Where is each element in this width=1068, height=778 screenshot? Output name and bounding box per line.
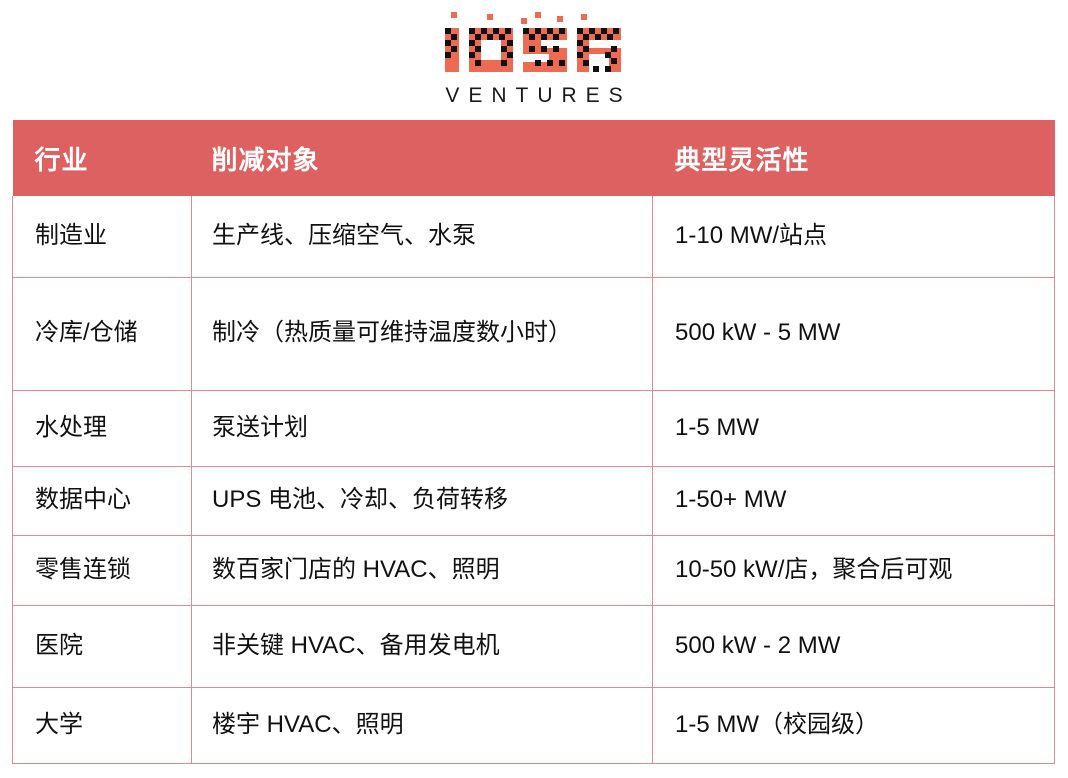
cell-flexibility: 1-5 MW [653, 390, 1055, 466]
cell-industry: 数据中心 [13, 466, 192, 535]
cell-industry: 医院 [13, 605, 192, 687]
cell-flexibility: 500 kW - 5 MW [653, 277, 1055, 390]
cell-target: 泵送计划 [192, 390, 653, 466]
table-row: 水处理 泵送计划 1-5 MW [13, 390, 1055, 466]
cell-industry: 水处理 [13, 390, 192, 466]
column-header-industry: 行业 [13, 120, 192, 196]
flexibility-table-wrap: 行业 削减对象 典型灵活性 制造业 生产线、压缩空气、水泵 1-10 MW/站点… [12, 120, 1054, 764]
cell-flexibility: 1-10 MW/站点 [653, 196, 1055, 277]
table-row: 医院 非关键 HVAC、备用发电机 500 kW - 2 MW [13, 605, 1055, 687]
table-row: 大学 楼宇 HVAC、照明 1-5 MW（校园级） [13, 687, 1055, 763]
brand-wordmark: VENTURES [436, 84, 631, 108]
column-header-target: 削减对象 [192, 120, 653, 196]
cell-target: 数百家门店的 HVAC、照明 [192, 535, 653, 605]
cell-flexibility: 500 kW - 2 MW [653, 605, 1055, 687]
iosg-logo-icon [441, 12, 627, 78]
cell-target: 制冷（热质量可维持温度数小时） [192, 277, 653, 390]
table-row: 零售连锁 数百家门店的 HVAC、照明 10-50 kW/店，聚合后可观 [13, 535, 1055, 605]
cell-flexibility: 10-50 kW/店，聚合后可观 [653, 535, 1055, 605]
cell-flexibility: 1-50+ MW [653, 466, 1055, 535]
cell-industry: 冷库/仓储 [13, 277, 192, 390]
cell-industry: 零售连锁 [13, 535, 192, 605]
cell-target: 非关键 HVAC、备用发电机 [192, 605, 653, 687]
table-row: 数据中心 UPS 电池、冷却、负荷转移 1-50+ MW [13, 466, 1055, 535]
table-header: 行业 削减对象 典型灵活性 [13, 120, 1055, 196]
table-row: 冷库/仓储 制冷（热质量可维持温度数小时） 500 kW - 5 MW [13, 277, 1055, 390]
table-row: 制造业 生产线、压缩空气、水泵 1-10 MW/站点 [13, 196, 1055, 277]
cell-target: 楼宇 HVAC、照明 [192, 687, 653, 763]
cell-target: 生产线、压缩空气、水泵 [192, 196, 653, 277]
industry-flexibility-table: 行业 削减对象 典型灵活性 制造业 生产线、压缩空气、水泵 1-10 MW/站点… [12, 120, 1055, 764]
table-body: 制造业 生产线、压缩空气、水泵 1-10 MW/站点 冷库/仓储 制冷（热质量可… [13, 196, 1055, 763]
cell-industry: 大学 [13, 687, 192, 763]
cell-target: UPS 电池、冷却、负荷转移 [192, 466, 653, 535]
brand-logo-block: VENTURES [0, 12, 1068, 108]
page-root: VENTURES 行业 削减对象 典型灵活性 制造业 生产线、压缩空气、水泵 1… [0, 0, 1068, 778]
cell-flexibility: 1-5 MW（校园级） [653, 687, 1055, 763]
column-header-flexibility: 典型灵活性 [653, 120, 1055, 196]
cell-industry: 制造业 [13, 196, 192, 277]
table-header-row: 行业 削减对象 典型灵活性 [13, 120, 1055, 196]
